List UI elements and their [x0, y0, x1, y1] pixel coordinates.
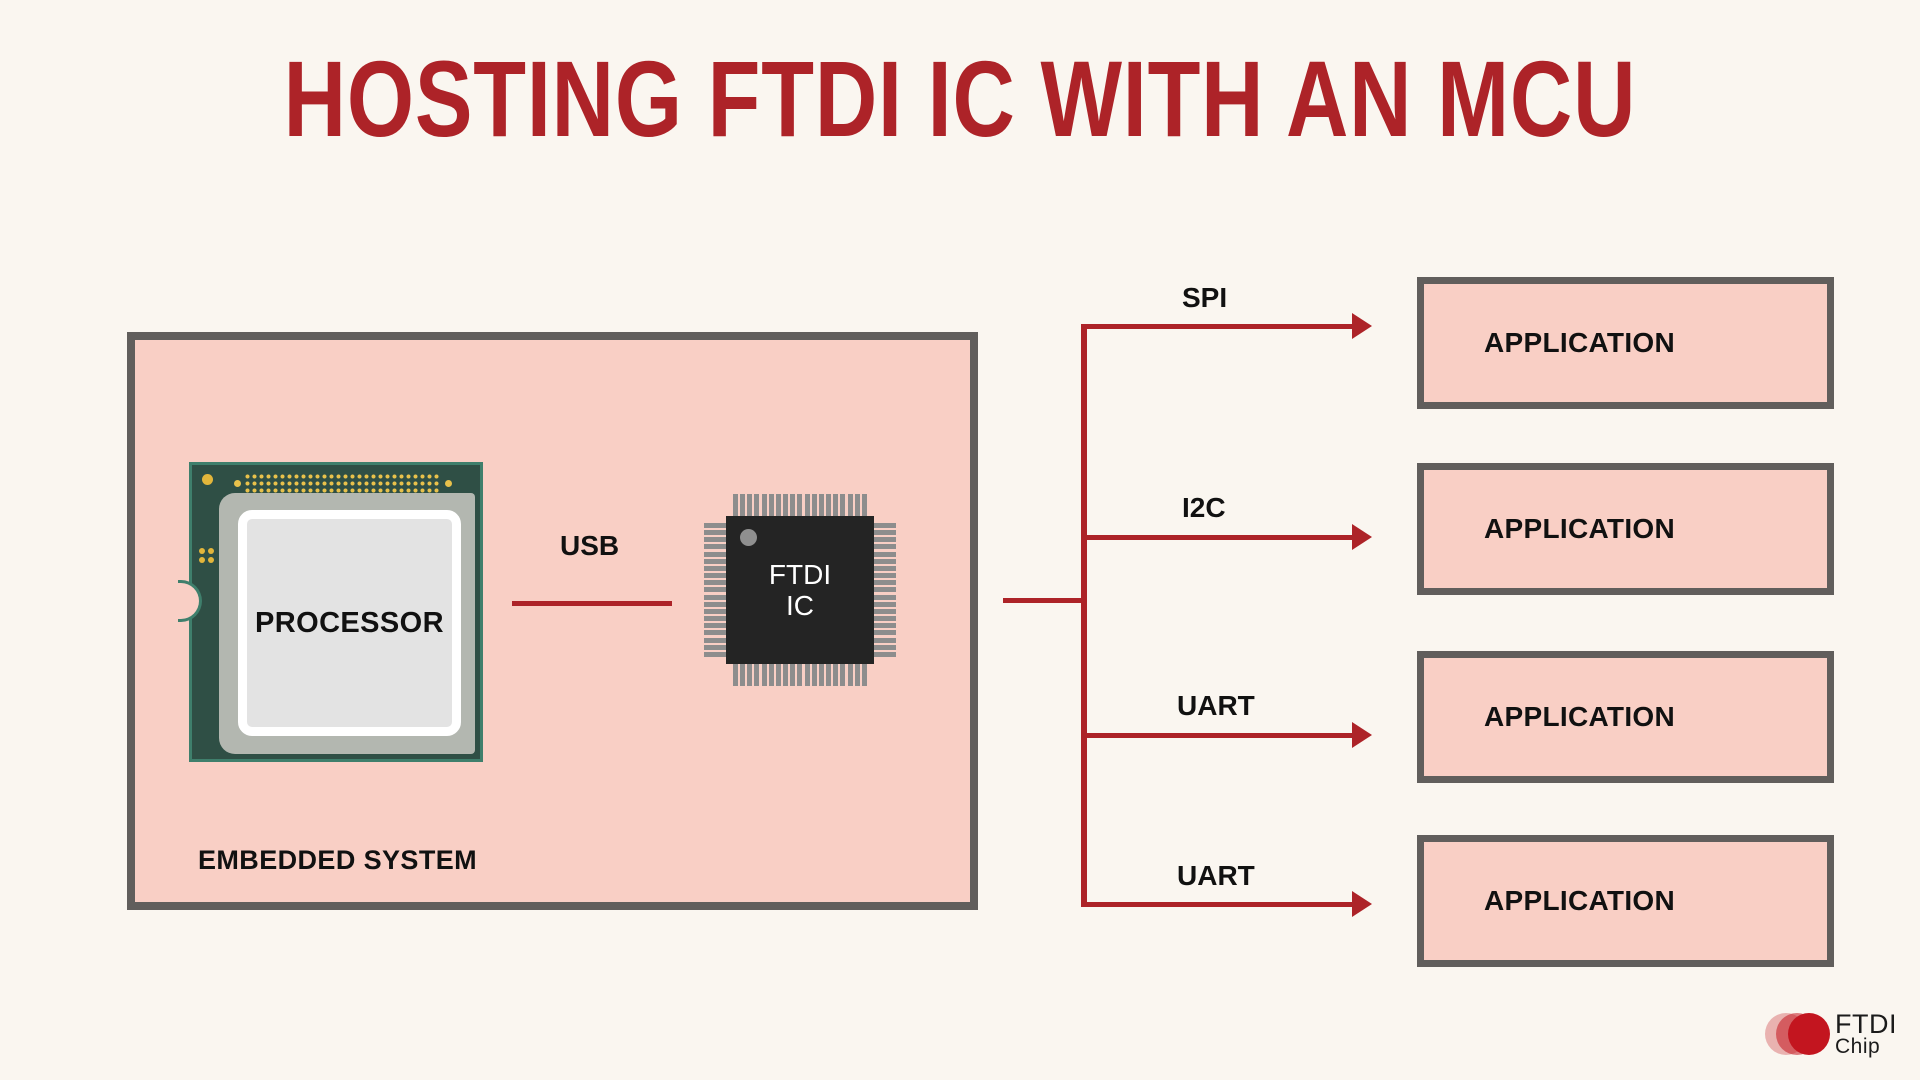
- application-box-2: APPLICATION: [1417, 463, 1834, 595]
- bus-branch-uart-2: [1081, 902, 1366, 907]
- ic-label-line1: FTDI: [769, 559, 831, 590]
- logo-text-chip: Chip: [1835, 1035, 1880, 1059]
- ic-body: FTDI IC: [726, 516, 874, 664]
- arrow-right-icon-spi: [1352, 313, 1372, 339]
- application-label-4: APPLICATION: [1424, 885, 1675, 917]
- cpu-corner-dot-icon: [202, 474, 213, 485]
- diagram-canvas: HOSTING FTDI IC WITH AN MCU EMBEDDED SYS…: [0, 0, 1920, 1080]
- bus-label-spi: SPI: [1182, 282, 1227, 314]
- arrow-right-icon-uart-1: [1352, 722, 1372, 748]
- usb-connection-line: [512, 601, 672, 606]
- bus-branch-i2c: [1081, 535, 1366, 540]
- application-box-3: APPLICATION: [1417, 651, 1834, 783]
- bus-stub-line: [1003, 598, 1086, 603]
- application-box-4: APPLICATION: [1417, 835, 1834, 967]
- processor-chip: PROCESSOR: [189, 462, 483, 762]
- cpu-gold-pads-icon: [245, 474, 441, 494]
- bus-label-i2c: I2C: [1182, 492, 1226, 524]
- bus-trunk-line: [1081, 324, 1087, 907]
- ftdi-chip-logo: FTDI Chip: [1765, 1007, 1895, 1063]
- embedded-system-label: EMBEDDED SYSTEM: [198, 845, 477, 876]
- arrow-right-icon-i2c: [1352, 524, 1372, 550]
- cpu-mini-dots-icon: [199, 548, 217, 568]
- processor-label: PROCESSOR: [255, 607, 444, 640]
- bus-label-uart-2: UART: [1177, 860, 1255, 892]
- cpu-die-icon: PROCESSOR: [238, 510, 461, 736]
- application-label-1: APPLICATION: [1424, 327, 1675, 359]
- logo-disc-front-icon: [1788, 1013, 1830, 1055]
- arrow-right-icon-uart-2: [1352, 891, 1372, 917]
- bus-branch-uart-1: [1081, 733, 1366, 738]
- ic-label-line2: IC: [786, 590, 814, 621]
- usb-label: USB: [560, 530, 619, 562]
- ic-label: FTDI IC: [726, 516, 874, 664]
- bus-label-uart-1: UART: [1177, 690, 1255, 722]
- page-title: HOSTING FTDI IC WITH AN MCU: [192, 42, 1728, 155]
- application-box-1: APPLICATION: [1417, 277, 1834, 409]
- ftdi-ic-chip: FTDI IC: [700, 490, 900, 690]
- application-label-3: APPLICATION: [1424, 701, 1675, 733]
- application-label-2: APPLICATION: [1424, 513, 1675, 545]
- bus-branch-spi: [1081, 324, 1366, 329]
